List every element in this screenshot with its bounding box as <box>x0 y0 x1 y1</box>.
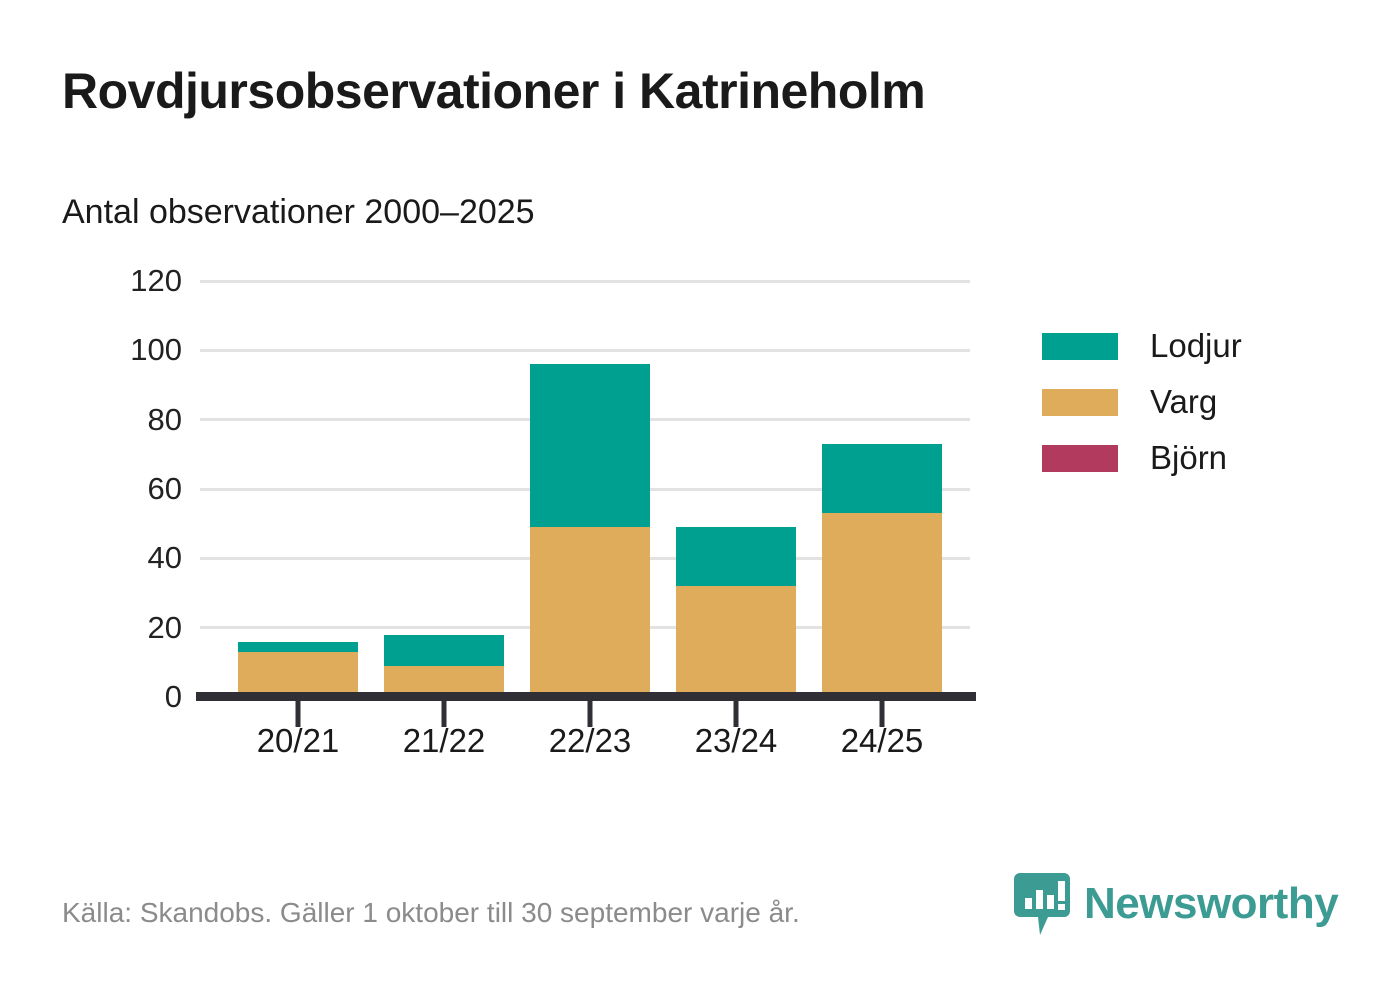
newsworthy-logo[interactable]: Newsworthy <box>1014 873 1338 935</box>
y-axis-tick-label: 40 <box>92 540 182 576</box>
bar-group[interactable] <box>384 281 504 697</box>
legend-item[interactable]: Varg <box>1042 374 1342 430</box>
y-axis-tick-label: 120 <box>92 263 182 299</box>
y-axis-tick-label: 20 <box>92 610 182 646</box>
legend-label: Lodjur <box>1150 327 1242 365</box>
x-axis-tick-label: 24/25 <box>841 722 924 760</box>
source-note: Källa: Skandobs. Gäller 1 oktober till 3… <box>62 897 800 929</box>
stacked-bar-chart: 020406080100120 20/2121/2222/2323/2424/2… <box>0 0 1382 999</box>
bar-segment[interactable] <box>384 635 504 666</box>
bar-group[interactable] <box>238 281 358 697</box>
bar-group[interactable] <box>822 281 942 697</box>
x-axis-tick-label: 20/21 <box>257 722 340 760</box>
x-axis-tick-label: 22/23 <box>549 722 632 760</box>
chart-page: Rovdjursobservationer i Katrineholm Anta… <box>0 0 1382 999</box>
bar-segment[interactable] <box>530 527 650 697</box>
legend-item[interactable]: Lodjur <box>1042 318 1342 374</box>
y-axis-tick-label: 0 <box>92 679 182 715</box>
legend-label: Björn <box>1150 439 1227 477</box>
y-axis-tick-label: 80 <box>92 402 182 438</box>
x-axis-line <box>196 692 976 701</box>
bar-segment[interactable] <box>822 444 942 513</box>
bar-segment[interactable] <box>676 527 796 586</box>
legend-swatch <box>1042 445 1118 472</box>
x-axis-tick-label: 23/24 <box>695 722 778 760</box>
legend-swatch <box>1042 333 1118 360</box>
bar-series-layer <box>200 281 970 697</box>
newsworthy-wordmark: Newsworthy <box>1084 879 1338 929</box>
chart-legend: LodjurVargBjörn <box>1042 318 1342 486</box>
legend-label: Varg <box>1150 383 1217 421</box>
bar-segment[interactable] <box>238 642 358 652</box>
y-axis-tick-label: 100 <box>92 332 182 368</box>
bar-segment[interactable] <box>676 586 796 697</box>
legend-swatch <box>1042 389 1118 416</box>
y-axis-tick-label: 60 <box>92 471 182 507</box>
newsworthy-bar-chart-icon <box>1014 873 1070 935</box>
bar-segment[interactable] <box>530 364 650 527</box>
bar-segment[interactable] <box>822 513 942 697</box>
bar-group[interactable] <box>530 281 650 697</box>
x-axis-tick-label: 21/22 <box>403 722 486 760</box>
legend-item[interactable]: Björn <box>1042 430 1342 486</box>
y-axis-labels: 020406080100120 <box>92 281 182 697</box>
bar-group[interactable] <box>676 281 796 697</box>
bar-segment[interactable] <box>238 652 358 694</box>
